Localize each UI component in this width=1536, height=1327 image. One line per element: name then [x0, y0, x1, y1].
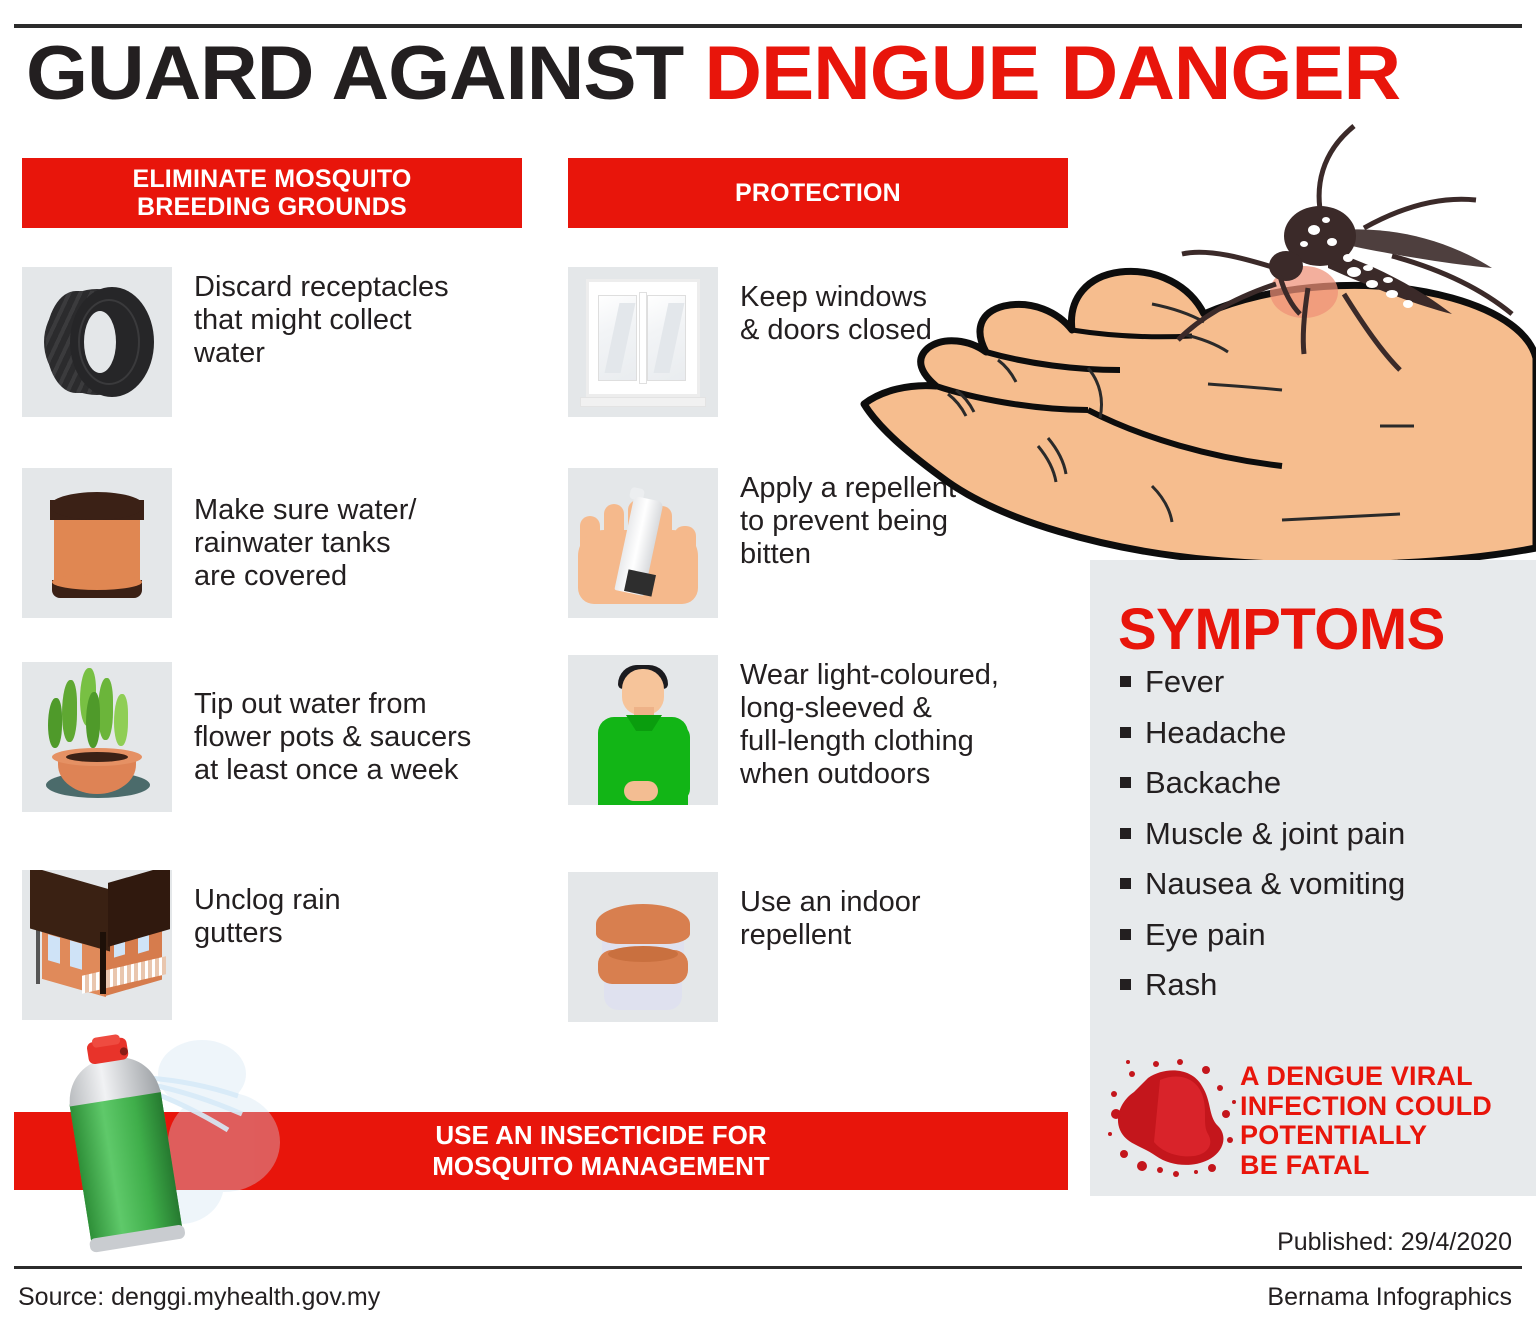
symptom-label: Eye pain — [1145, 919, 1266, 952]
water-tank-icon — [22, 468, 172, 618]
list-item-label: Wear light-coloured, long-sleeved & full… — [740, 655, 999, 791]
list-item: Discard receptacles that might collect w… — [22, 267, 449, 417]
list-item: Headache — [1120, 717, 1520, 750]
bullet-icon — [1120, 929, 1131, 940]
house-icon — [22, 870, 172, 1020]
symptom-label: Nausea & vomiting — [1145, 868, 1405, 901]
hand-with-mosquito-illustration — [852, 108, 1536, 578]
person-clothing-icon — [568, 655, 718, 805]
page-title-dark: GUARD AGAINST — [26, 31, 683, 116]
list-item: Fever — [1120, 666, 1520, 699]
footer-divider — [14, 1266, 1522, 1269]
credit-label: Bernama Infographics — [1267, 1283, 1512, 1312]
list-item: Eye pain — [1120, 919, 1520, 952]
list-item-label: Use an indoor repellent — [740, 872, 921, 952]
symptom-label: Backache — [1145, 767, 1281, 800]
indoor-repellent-icon — [568, 872, 718, 1022]
symptom-label: Fever — [1145, 666, 1224, 699]
symptom-label: Rash — [1145, 969, 1217, 1002]
list-item: Backache — [1120, 767, 1520, 800]
bullet-icon — [1120, 979, 1131, 990]
list-item: Nausea & vomiting — [1120, 868, 1520, 901]
fatal-warning: A DENGUE VIRAL INFECTION COULD POTENTIAL… — [1108, 1048, 1528, 1180]
symptom-label: Muscle & joint pain — [1145, 818, 1405, 851]
spray-can-icon — [52, 1034, 282, 1254]
insecticide-banner-text: USE AN INSECTICIDE FOR MOSQUITO MANAGEME… — [312, 1120, 770, 1181]
published-date: Published: 29/4/2020 — [1277, 1228, 1512, 1257]
bullet-icon — [1120, 828, 1131, 839]
symptoms-title: SYMPTOMS — [1118, 596, 1445, 663]
list-item: Rash — [1120, 969, 1520, 1002]
window-icon — [568, 267, 718, 417]
bullet-icon — [1120, 727, 1131, 738]
list-item: Use an indoor repellent — [568, 872, 921, 1022]
hand-shape — [864, 271, 1536, 564]
list-item: Wear light-coloured, long-sleeved & full… — [568, 655, 999, 805]
source-label: Source: denggi.myhealth.gov.my — [18, 1283, 380, 1312]
section-header-eliminate: ELIMINATE MOSQUITO BREEDING GROUNDS — [22, 158, 522, 228]
page-title-red: DENGUE DANGER — [704, 31, 1400, 116]
blood-splatter-icon — [1108, 1054, 1238, 1178]
tyre-icon — [22, 267, 172, 417]
list-item: Tip out water from flower pots & saucers… — [22, 662, 471, 812]
symptoms-panel: SYMPTOMS Fever Headache Backache Muscle … — [1090, 560, 1536, 1196]
bullet-icon — [1120, 676, 1131, 687]
flower-pot-icon — [22, 662, 172, 812]
list-item-label: Make sure water/ rainwater tanks are cov… — [194, 468, 416, 593]
list-item-label: Tip out water from flower pots & saucers… — [194, 662, 471, 787]
list-item: Unclog rain gutters — [22, 870, 341, 1020]
top-divider — [14, 24, 1522, 28]
fatal-warning-text: A DENGUE VIRAL INFECTION COULD POTENTIAL… — [1240, 1062, 1530, 1181]
repellent-tube-icon — [568, 468, 718, 618]
page-title: GUARD AGAINST DENGUE DANGER — [26, 36, 1536, 112]
bullet-icon — [1120, 878, 1131, 889]
list-item-label: Discard receptacles that might collect w… — [194, 267, 449, 370]
bullet-icon — [1120, 777, 1131, 788]
symptoms-list: Fever Headache Backache Muscle & joint p… — [1120, 666, 1520, 1020]
list-item-label: Unclog rain gutters — [194, 870, 341, 950]
list-item: Make sure water/ rainwater tanks are cov… — [22, 468, 416, 618]
list-item: Muscle & joint pain — [1120, 818, 1520, 851]
symptom-label: Headache — [1145, 717, 1286, 750]
